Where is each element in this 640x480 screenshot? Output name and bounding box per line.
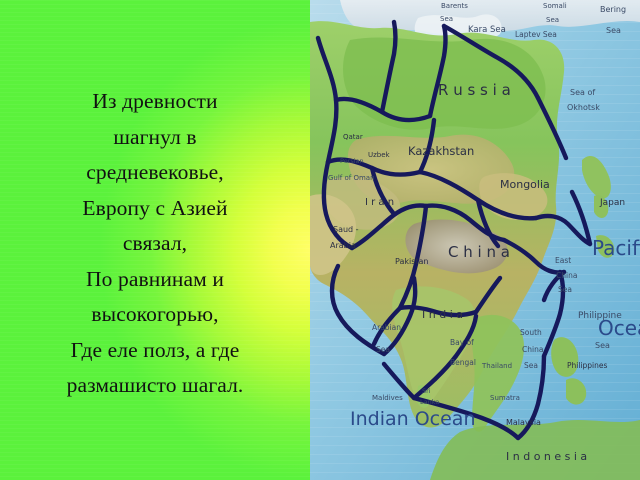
map-label-indonesia: I n d o n e s i a bbox=[506, 450, 587, 463]
map-label-lanka: Lanka bbox=[420, 398, 439, 406]
map-label-malaysia: Malaysia bbox=[506, 418, 541, 427]
map-label-kara-sea: Kara Sea bbox=[468, 25, 506, 35]
map-label-bering: Bering bbox=[600, 5, 626, 14]
poem-line: Европу с Азией bbox=[6, 191, 304, 227]
map-label-philippine: Philippine bbox=[578, 311, 622, 321]
map-label-sea: Sea bbox=[524, 361, 538, 370]
map-label-east-china-sea: Sea bbox=[558, 285, 572, 294]
map-label-somali: Somali bbox=[543, 2, 567, 10]
map-label-bering-sea: Sea bbox=[606, 26, 621, 35]
map-label-east-china: China bbox=[556, 271, 577, 280]
map-label-persian: Persian bbox=[340, 157, 364, 165]
poem-line: Где еле полз, а где bbox=[6, 333, 304, 369]
map-label-okhotsk: Okhotsk bbox=[567, 103, 600, 112]
map-label-iran: I r a n bbox=[365, 197, 394, 208]
map-label-south: South bbox=[520, 328, 542, 337]
poem-line: шагнул в bbox=[6, 120, 304, 156]
map-label-barents-sea: Sea bbox=[440, 15, 453, 23]
map-label-barents: Barents bbox=[441, 2, 468, 10]
poem-text-block: Из древности шагнул в средневековье, Евр… bbox=[6, 84, 304, 404]
map-label-philippines: Philippines bbox=[567, 361, 608, 370]
map-label-east: East bbox=[555, 256, 571, 265]
map-label-india: I n d i a bbox=[422, 308, 463, 321]
map-label-saudi: Saud - bbox=[333, 225, 359, 234]
poem-line: средневековье, bbox=[6, 155, 304, 191]
map-label-arabian-sea: Sea bbox=[376, 345, 390, 354]
presentation-slide: Из древности шагнул в средневековье, Евр… bbox=[0, 0, 640, 480]
poem-line: высокогорью, bbox=[6, 297, 304, 333]
map-label-bay-of: Bay of bbox=[450, 338, 474, 347]
map-label-bengal: Bengal bbox=[450, 358, 476, 367]
map-label-somali-sea: Sea bbox=[546, 16, 559, 24]
map-label-mongolia: Mongolia bbox=[500, 178, 550, 191]
map-label-china-sea: China bbox=[522, 345, 543, 354]
map-label-china: C h i n a bbox=[448, 243, 510, 261]
map-label-laptev-sea: Laptev Sea bbox=[515, 30, 557, 39]
map-label-thailand: Thailand bbox=[481, 362, 512, 370]
poem-background-panel: Из древности шагнул в средневековье, Евр… bbox=[0, 0, 310, 480]
map-label-pacific: Pacific bbox=[592, 236, 640, 260]
map-label-gulf-of-oman: Gulf of Oman bbox=[328, 174, 375, 182]
map-label-arabia: Arabia bbox=[330, 241, 356, 250]
poem-line: связал, bbox=[6, 226, 304, 262]
map-label-uzbek: Uzbek bbox=[368, 151, 391, 159]
map-label-qatar: Qatar bbox=[343, 133, 363, 141]
map-label-sumatra: Sumatra bbox=[490, 394, 520, 402]
map-label-pakistan: Pakistan bbox=[395, 257, 429, 266]
map-label-japan: Japan bbox=[599, 198, 625, 208]
map-label-maldives: Maldives bbox=[372, 394, 403, 402]
map-label-arabian: Arabian bbox=[372, 323, 401, 332]
map-label-sea-of: Sea of bbox=[570, 88, 595, 97]
map-label-kazakhstan: Kazakhstan bbox=[408, 144, 474, 158]
map-label-indian-ocean: Indian Ocean bbox=[350, 408, 476, 430]
poem-line: размашисто шагал. bbox=[6, 368, 304, 404]
map-label-russia: R u s s i a bbox=[438, 81, 511, 99]
map-label-philippine-sea: Sea bbox=[595, 341, 610, 350]
poem-line: Из древности bbox=[6, 84, 304, 120]
map-label-sri: Sri bbox=[422, 387, 431, 395]
asia-silk-road-map: R u s s i a Kazakhstan Mongolia C h i n … bbox=[310, 0, 640, 480]
poem-line: По равнинам и bbox=[6, 262, 304, 298]
